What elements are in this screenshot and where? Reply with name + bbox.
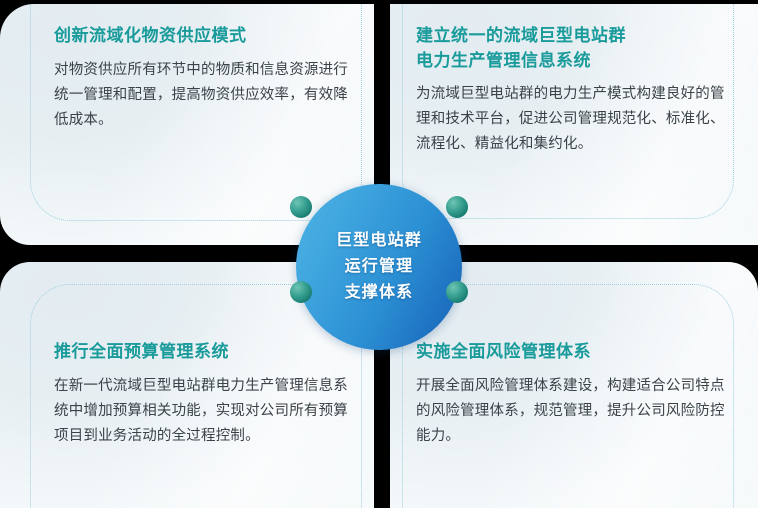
card-text-bottom-left: 在新一代流域巨型电站群电力生产管理信息系统中增加预算相关功能，实现对公司所有预算… <box>54 374 354 449</box>
connector-node-bottom-left-icon <box>290 281 312 303</box>
card-text-top-left: 对物资供应所有环节中的物质和信息资源进行统一管理和配置，提高物资供应效率，有效降… <box>54 58 354 133</box>
card-text-bottom-right: 开展全面风险管理体系建设，构建适合公司特点的风险管理体系，规范管理，提升公司风险… <box>416 374 734 449</box>
card-title-top-right: 建立统一的流域巨型电站群 电力生产管理信息系统 <box>416 24 734 73</box>
connector-node-top-right-icon <box>446 196 468 218</box>
card-body-bottom-right: 实施全面风险管理体系 开展全面风险管理体系建设，构建适合公司特点的风险管理体系，… <box>416 340 734 448</box>
center-hub-circle[interactable]: 巨型电站群 运行管理 支撑体系 <box>296 184 462 350</box>
card-body-top-right: 建立统一的流域巨型电站群 电力生产管理信息系统 为流域巨型电站群的电力生产模式构… <box>416 24 734 157</box>
infographic-canvas: 创新流域化物资供应模式 对物资供应所有环节中的物质和信息资源进行统一管理和配置，… <box>0 0 758 508</box>
card-text-top-right: 为流域巨型电站群的电力生产模式构建良好的管理和技术平台，促进公司管理规范化、标准… <box>416 82 734 157</box>
card-body-top-left: 创新流域化物资供应模式 对物资供应所有环节中的物质和信息资源进行统一管理和配置，… <box>54 24 354 132</box>
connector-node-top-left-icon <box>290 196 312 218</box>
center-hub-label: 巨型电站群 运行管理 支撑体系 <box>336 228 422 306</box>
card-body-bottom-left: 推行全面预算管理系统 在新一代流域巨型电站群电力生产管理信息系统中增加预算相关功… <box>54 340 354 448</box>
card-title-bottom-right: 实施全面风险管理体系 <box>416 340 734 365</box>
card-title-bottom-left: 推行全面预算管理系统 <box>54 340 354 365</box>
card-title-top-left: 创新流域化物资供应模式 <box>54 24 354 49</box>
connector-node-bottom-right-icon <box>446 281 468 303</box>
